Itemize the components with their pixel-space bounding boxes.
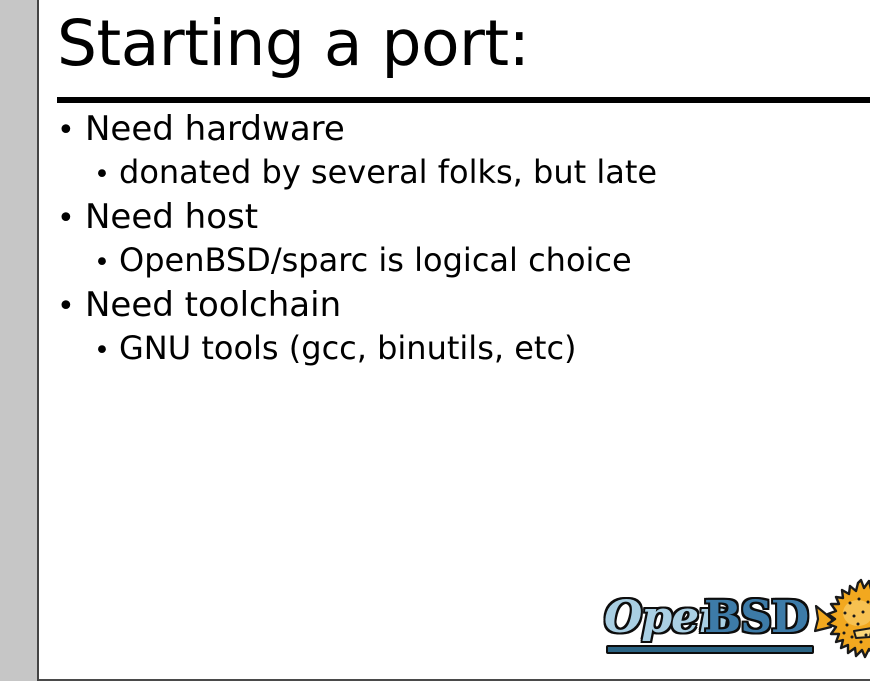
list-item: • Need hardware — [39, 112, 870, 156]
list-item-label: OpenBSD/sparc is logical choice — [119, 244, 632, 276]
bullet-dot-icon: • — [94, 337, 119, 364]
title-underline-rule — [57, 97, 870, 103]
list-item-label: GNU tools (gcc, binutils, etc) — [119, 332, 577, 364]
list-item: • Need host — [39, 200, 870, 244]
slide-root: Starting a port: • Need hardware • donat… — [0, 0, 870, 681]
list-item-label: Need toolchain — [85, 288, 341, 322]
openbsd-logo: Open BSD — [564, 575, 870, 673]
list-item-label: Need hardware — [85, 112, 345, 146]
wordmark-bsd-text: BSD — [704, 587, 808, 649]
page-title: Starting a port: — [57, 12, 529, 75]
list-item: • OpenBSD/sparc is logical choice — [39, 244, 870, 288]
bullet-dot-icon: • — [57, 292, 85, 322]
bullet-dot-icon: • — [57, 204, 85, 234]
puffy-blowfish-mascot-icon — [814, 575, 870, 670]
list-item: • GNU tools (gcc, binutils, etc) — [39, 332, 870, 376]
bullet-dot-icon: • — [94, 161, 119, 188]
list-item-label: donated by several folks, but late — [119, 156, 657, 188]
slide-canvas: Starting a port: • Need hardware • donat… — [39, 0, 870, 681]
openbsd-wordmark: Open BSD — [604, 587, 822, 649]
left-gutter-band — [0, 0, 37, 681]
bullet-list: • Need hardware • donated by several fol… — [39, 112, 870, 376]
bullet-dot-icon: • — [57, 116, 85, 146]
list-item: • donated by several folks, but late — [39, 156, 870, 200]
list-item-label: Need host — [85, 200, 258, 234]
list-item: • Need toolchain — [39, 288, 870, 332]
bullet-dot-icon: • — [94, 249, 119, 276]
